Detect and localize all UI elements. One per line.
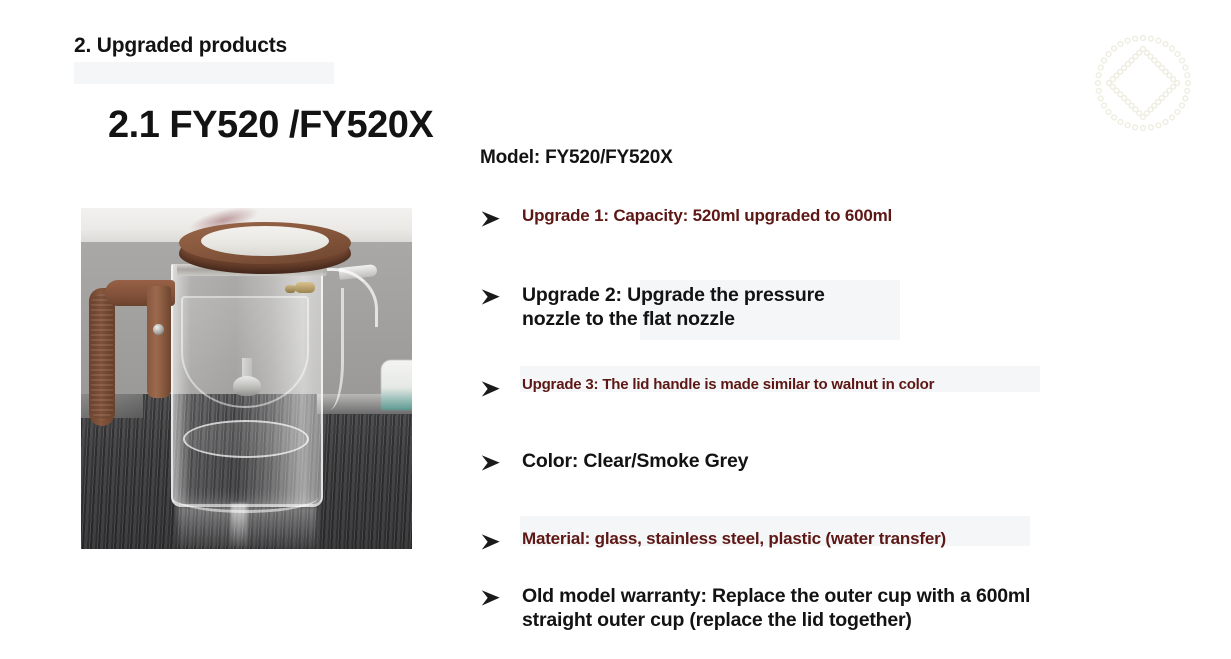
arrow-bullet-icon — [478, 450, 522, 474]
arrow-bullet-icon — [478, 206, 522, 230]
bullet-label: Material: glass, stainless steel, plasti… — [522, 529, 946, 550]
bullet-label: Upgrade 2: Upgrade the pressure nozzle t… — [522, 284, 825, 332]
arrow-bullet-icon — [478, 585, 522, 609]
bullet-item-upgrade-1: Upgrade 1: Capacity: 520ml upgraded to 6… — [478, 206, 892, 230]
teapot-base-ring — [183, 420, 309, 458]
background-haze — [74, 62, 334, 84]
teapot-filter-knob — [233, 376, 261, 396]
photo-background-object — [381, 360, 412, 410]
circular-dotted-logo-icon — [1090, 30, 1196, 136]
bullet-item-material: Material: glass, stainless steel, plasti… — [478, 529, 946, 553]
slide-canvas: 2. Upgraded products 2.1 FY520 /FY520X M… — [0, 0, 1231, 659]
teapot-bottom-ring — [171, 480, 319, 513]
teapot-handle-post — [147, 286, 171, 398]
teapot-collar-clip — [295, 282, 315, 293]
teapot-lid-inner-disc — [201, 226, 329, 256]
section-heading: 2. Upgraded products — [74, 34, 287, 58]
arrow-bullet-icon — [478, 284, 522, 308]
bullet-label: Color: Clear/Smoke Grey — [522, 450, 748, 474]
bullet-item-old-model-warranty: Old model warranty: Replace the outer cu… — [478, 585, 1030, 633]
teapot-handle-woodgrain — [91, 294, 113, 420]
teapot-handle-screw — [153, 324, 164, 335]
arrow-bullet-icon — [478, 529, 522, 553]
bullet-item-upgrade-3: Upgrade 3: The lid handle is made simila… — [478, 376, 934, 400]
product-photo-glass-teapot — [81, 208, 412, 549]
bullet-label: Upgrade 1: Capacity: 520ml upgraded to 6… — [522, 206, 892, 227]
arrow-bullet-icon — [478, 376, 522, 400]
bullet-label: Upgrade 3: The lid handle is made simila… — [522, 376, 934, 394]
bullet-label: Old model warranty: Replace the outer cu… — [522, 585, 1030, 633]
bullet-item-color: Color: Clear/Smoke Grey — [478, 450, 748, 474]
page-title: 2.1 FY520 /FY520X — [108, 104, 433, 147]
model-label: Model: FY520/FY520X — [480, 147, 673, 169]
bullet-item-upgrade-2: Upgrade 2: Upgrade the pressure nozzle t… — [478, 284, 825, 332]
